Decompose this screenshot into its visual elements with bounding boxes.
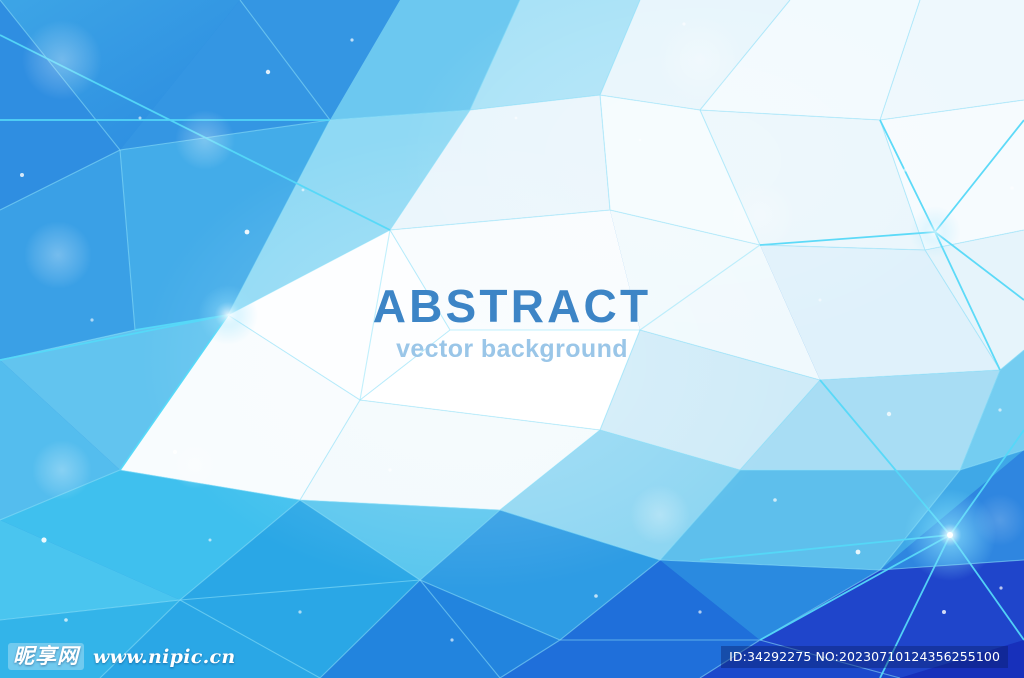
image-id-strip: ID:34292275 NO:20230710124356255100 [721, 646, 1008, 668]
watermark-logo: 昵享网 [8, 643, 84, 670]
low-poly-artwork [0, 0, 1024, 678]
watermark: 昵享网 www.nipic.cn [8, 643, 235, 670]
watermark-url: www.nipic.cn [93, 646, 235, 668]
abstract-background-canvas: ABSTRACT vector background 昵享网 www.nipic… [0, 0, 1024, 678]
